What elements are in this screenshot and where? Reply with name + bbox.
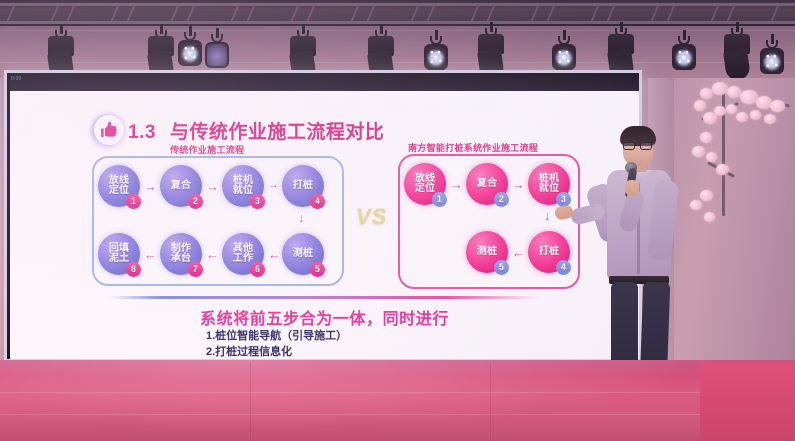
floor-seam: [250, 362, 251, 441]
lighting-truss: [0, 0, 795, 26]
right-flow-subtitle: 南方智能打桩系统作业施工流程: [408, 141, 538, 154]
par-light: [672, 30, 696, 78]
node-badge: 4: [556, 260, 571, 275]
blossom: [706, 152, 717, 162]
node-label-line: 打桩: [293, 181, 313, 191]
flow-arrow-down: ↓: [544, 209, 551, 222]
glasses-icon: [623, 142, 653, 150]
blossom: [726, 104, 737, 114]
node-badge: 5: [494, 260, 509, 275]
node-label-line: 复合: [477, 179, 497, 189]
headline-text: 系统将前五步合为一体，同时进行: [10, 305, 639, 329]
moving-head-light: [724, 22, 750, 84]
flow-arrow: →: [206, 180, 219, 193]
flow-node-1[interactable]: 放线 定位 1: [98, 165, 140, 207]
floor-seam: [0, 414, 700, 415]
blossom: [770, 100, 785, 112]
flow-arrow: →: [512, 178, 525, 191]
par-light: [205, 28, 229, 76]
smart-flow-node-3[interactable]: 桩机 就位 3: [528, 163, 570, 205]
flow-arrow: →: [450, 178, 463, 191]
flow-arrow: →: [144, 180, 157, 193]
floor-seam: [0, 392, 700, 393]
floor-seam: [490, 362, 491, 441]
blossom: [700, 190, 713, 201]
flow-node-4[interactable]: 打桩 4: [282, 165, 324, 207]
floor-light-glow: [0, 360, 795, 441]
page-title: 1.3与传统作业施工流程对比: [128, 117, 384, 144]
section-divider: [110, 296, 540, 299]
flow-node-5[interactable]: 测桩 5: [282, 233, 324, 275]
node-badge: 6: [250, 262, 265, 277]
flow-node-6[interactable]: 其他 工作 6: [222, 233, 264, 275]
flow-node-7[interactable]: 制作 承台 7: [160, 233, 202, 275]
node-label-line: 定位: [109, 186, 129, 196]
flow-node-8[interactable]: 回填 泥土 8: [98, 233, 140, 275]
node-badge: 7: [188, 262, 203, 277]
floor-edge-strip: [700, 362, 795, 441]
slide-content: 1.3与传统作业施工流程对比 传统作业施工流程 南方智能打桩系统作业施工流程 放…: [10, 91, 639, 359]
thumbs-up-icon: [88, 111, 128, 151]
blossom: [750, 110, 761, 120]
node-label-line: 就位: [539, 184, 559, 194]
flow-arrow: →: [268, 180, 279, 191]
flow-node-2[interactable]: 复合 2: [160, 165, 202, 207]
bullet-list: 1.桩位智能导航（引导施工） 2.打桩过程信息化: [206, 329, 347, 359]
stage-scene: 0:00 1.3与传统作业施工流程对比: [0, 0, 795, 441]
blossom: [714, 106, 726, 116]
node-label-line: 就位: [233, 186, 253, 196]
flow-arrow-down: ↓: [298, 211, 305, 224]
blossom: [727, 86, 741, 98]
flow-arrow: ←: [144, 248, 157, 261]
smart-flow-node-2[interactable]: 复合 2: [466, 163, 508, 205]
blossom: [716, 164, 729, 175]
node-label-line: 复合: [171, 181, 191, 191]
par-light: [178, 26, 202, 74]
smart-flow-node-1[interactable]: 放线 定位 1: [404, 163, 446, 205]
par-light: [760, 34, 784, 82]
blossom: [694, 100, 706, 111]
blossom: [712, 82, 728, 95]
screen-display: 1.3与传统作业施工流程对比 传统作业施工流程 南方智能打桩系统作业施工流程 放…: [10, 91, 639, 359]
blossom: [700, 88, 713, 99]
node-badge: 3: [250, 194, 265, 209]
node-label-line: 承台: [171, 254, 191, 264]
smart-flow-node-5[interactable]: 测桩 5: [466, 231, 508, 273]
blossom: [736, 112, 748, 122]
vs-label: VS: [356, 204, 387, 230]
node-label-line: 测桩: [293, 249, 313, 259]
node-badge: 2: [188, 194, 203, 209]
presentation-screen[interactable]: 0:00 1.3与传统作业施工流程对比: [4, 70, 642, 362]
node-label-line: 工作: [233, 254, 253, 264]
node-label-line: 测桩: [477, 247, 497, 257]
node-badge: 5: [310, 262, 325, 277]
blossom: [700, 132, 712, 143]
node-badge: 1: [432, 192, 447, 207]
bullet-item: 2.打桩过程信息化: [206, 345, 347, 359]
title-number: 1.3: [128, 122, 156, 143]
smart-flow-node-4[interactable]: 打桩 4: [528, 231, 570, 273]
node-badge: 4: [310, 194, 325, 209]
blossom: [704, 212, 715, 222]
node-label-line: 泥土: [109, 254, 129, 264]
flow-node-3[interactable]: 桩机 就位 3: [222, 165, 264, 207]
blossom: [764, 114, 776, 124]
flow-arrow: ←: [206, 248, 219, 261]
screen-code-label: 0:00: [11, 76, 22, 82]
node-label-line: 定位: [415, 184, 435, 194]
screen-bezel: [10, 73, 639, 91]
node-badge: 8: [126, 262, 141, 277]
left-flow-subtitle: 传统作业施工流程: [170, 143, 244, 156]
node-badge: 2: [494, 192, 509, 207]
right-hand: [625, 180, 639, 196]
node-badge: 1: [126, 194, 141, 209]
title-text: 与传统作业施工流程对比: [170, 122, 385, 143]
flow-arrow: ←: [268, 248, 281, 261]
flow-arrow: ←: [512, 246, 525, 259]
bullet-item: 1.桩位智能导航（引导施工）: [206, 329, 347, 345]
node-label-line: 打桩: [539, 247, 559, 257]
